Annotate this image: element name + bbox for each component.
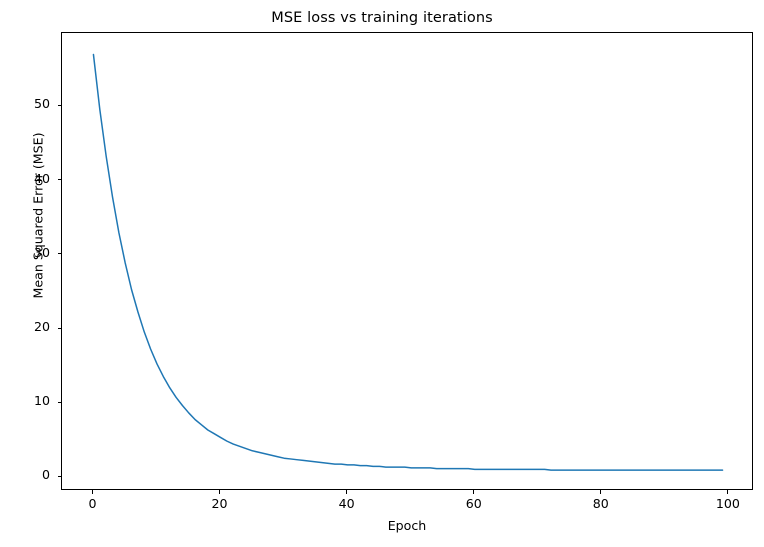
y-tick-mark: [58, 105, 62, 106]
mse-loss-line: [93, 55, 722, 471]
x-tick-mark: [92, 490, 93, 494]
x-tick-label: 0: [62, 496, 122, 511]
y-tick-label: 50: [0, 96, 50, 111]
chart-figure: MSE loss vs training iterations Epoch Me…: [0, 0, 764, 547]
y-tick-label: 40: [0, 171, 50, 186]
y-axis-label: Mean Squared Error (MSE): [31, 86, 46, 346]
y-tick-mark: [58, 179, 62, 180]
x-tick-mark: [346, 490, 347, 494]
x-tick-mark: [727, 490, 728, 494]
y-tick-mark: [58, 253, 62, 254]
x-tick-label: 60: [444, 496, 504, 511]
y-tick-mark: [58, 328, 62, 329]
chart-title: MSE loss vs training iterations: [0, 10, 764, 26]
y-tick-label: 10: [0, 393, 50, 408]
x-tick-label: 80: [571, 496, 631, 511]
line-series-svg: [62, 33, 754, 491]
x-tick-label: 20: [190, 496, 250, 511]
plot-area: [61, 32, 753, 490]
y-tick-label: 0: [0, 467, 50, 482]
x-tick-label: 40: [317, 496, 377, 511]
x-tick-mark: [600, 490, 601, 494]
y-tick-label: 20: [0, 319, 50, 334]
y-tick-mark: [58, 402, 62, 403]
x-tick-label: 100: [698, 496, 758, 511]
x-tick-mark: [473, 490, 474, 494]
y-tick-mark: [58, 476, 62, 477]
x-axis-label: Epoch: [61, 518, 753, 533]
x-tick-mark: [219, 490, 220, 494]
y-tick-label: 30: [0, 245, 50, 260]
